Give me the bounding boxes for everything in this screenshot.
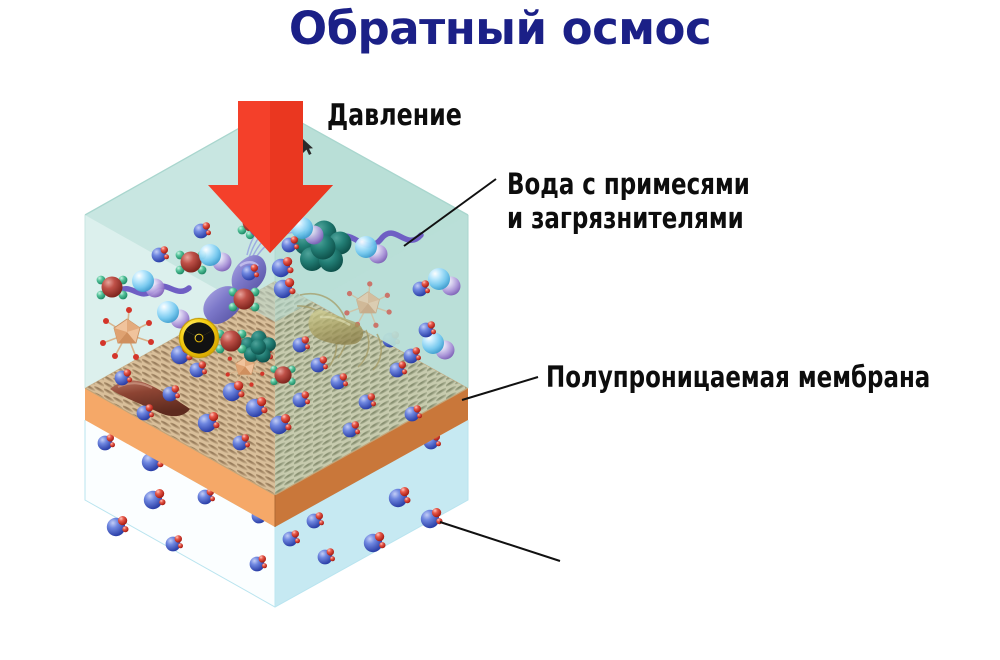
label-feed-water-line2: и загрязнителями: [507, 201, 750, 235]
label-feed-water: Вода с примесями и загрязнителями: [507, 167, 750, 235]
leader-membrane: [462, 377, 538, 400]
reverse-osmosis-illustration: [0, 0, 1000, 660]
label-feed-water-line1: Вода с примесями: [507, 167, 750, 201]
label-pressure: Давление: [327, 98, 462, 133]
page-title: Обратный осмос: [0, 2, 1000, 55]
diagram-canvas: Обратный осмос Давление Вода с примесями…: [0, 0, 1000, 660]
label-membrane: Полупроницаемая мембрана: [546, 360, 930, 394]
radiation-hazard-icon: [179, 318, 220, 359]
leader-clean: [440, 522, 560, 561]
